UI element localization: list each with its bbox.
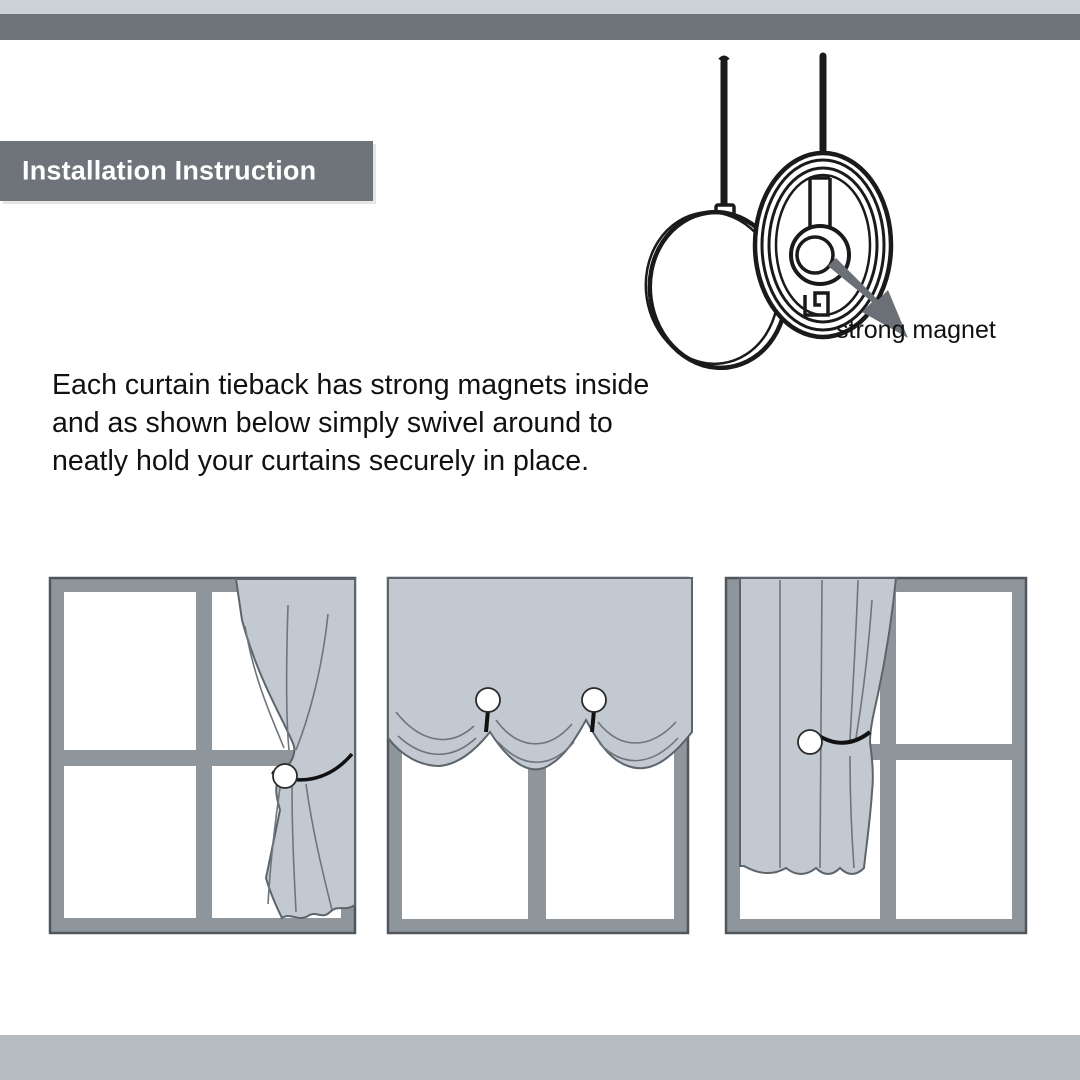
title-banner: Installation Instruction bbox=[0, 141, 373, 201]
bottom-bar bbox=[0, 1035, 1080, 1080]
tieback-dot bbox=[798, 730, 822, 754]
tieback-cord-left bbox=[716, 58, 734, 216]
tieback-dot bbox=[273, 764, 297, 788]
page-title: Installation Instruction bbox=[22, 156, 316, 187]
curtain-valance bbox=[388, 578, 692, 769]
window-panel-1 bbox=[40, 560, 380, 945]
tieback-dot bbox=[476, 688, 500, 712]
top-dark-bar bbox=[0, 14, 1080, 40]
instruction-paragraph: Each curtain tieback has strong magnets … bbox=[52, 366, 752, 480]
instruction-sheet: Installation Instruction Each curtain ti… bbox=[0, 0, 1080, 1080]
tieback-dot bbox=[582, 688, 606, 712]
window-panel-2 bbox=[370, 560, 710, 945]
window-panel-3 bbox=[700, 560, 1040, 945]
top-light-strip bbox=[0, 0, 1080, 14]
magnet-callout-label: strong magnet bbox=[836, 316, 996, 345]
